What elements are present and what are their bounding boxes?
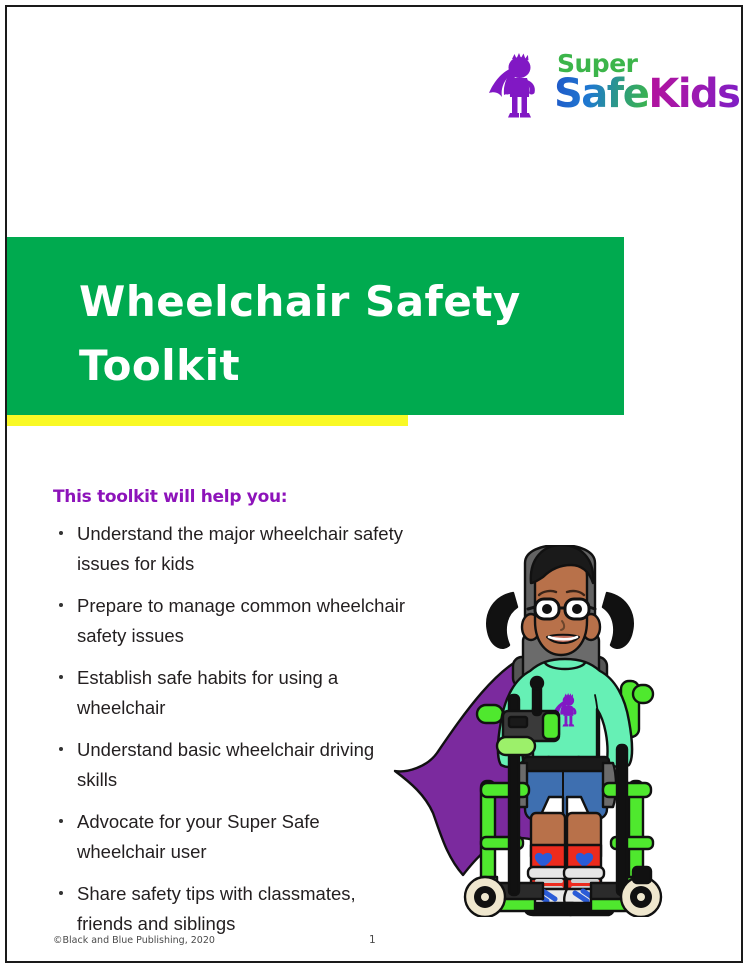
page-title: Wheelchair Safety Toolkit [79,270,599,398]
help-section-heading: This toolkit will help you: [53,487,287,507]
help-items-list: Understand the major wheelchair safety i… [51,519,406,951]
list-item: Establish safe habits for using a wheelc… [51,663,406,723]
page-title-line-2: Toolkit [79,334,599,398]
yellow-accent-bar [5,415,408,426]
logo-word-kids: Kids [648,71,739,117]
title-banner: Wheelchair Safety Toolkit [5,237,624,415]
footer-copyright: ©Black and Blue Publishing, 2020 [53,935,215,946]
list-item: Share safety tips with classmates, frien… [51,879,406,939]
page-title-line-1: Wheelchair Safety [79,270,599,334]
logo-word-safekids: SafeKids [554,74,740,114]
footer-page-number: 1 [369,934,376,946]
list-item: Prepare to manage common wheelchair safe… [51,591,406,651]
list-item: Understand basic wheelchair driving skil… [51,735,406,795]
document-page: Super SafeKids Wheelchair Safety Toolkit… [5,5,743,963]
super-safe-kids-logo: Super SafeKids [486,49,701,121]
logo-word-safe: Safe [554,71,648,117]
superhero-kid-icon [486,53,552,119]
list-item: Understand the major wheelchair safety i… [51,519,406,579]
child-in-power-wheelchair-illustration [385,545,715,917]
logo-wordmark: Super SafeKids [554,49,702,121]
list-item: Advocate for your Super Safe wheelchair … [51,807,406,867]
